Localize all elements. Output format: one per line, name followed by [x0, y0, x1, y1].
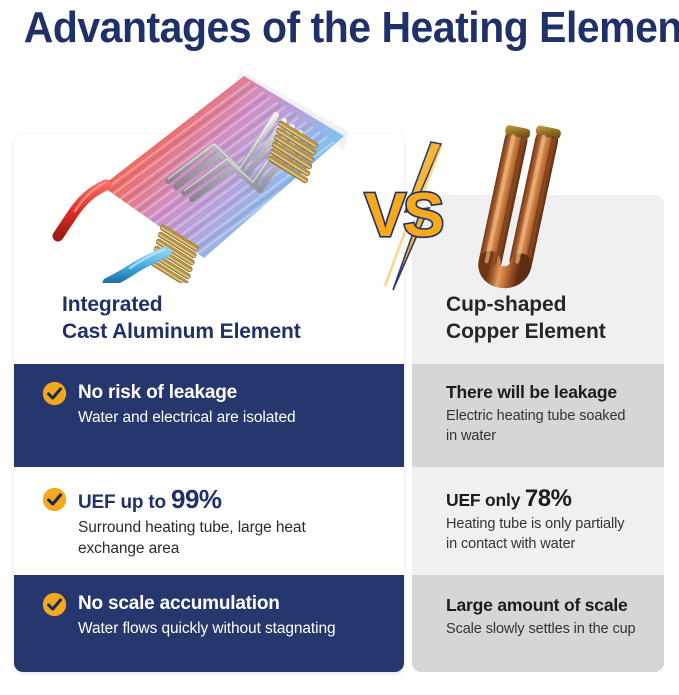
right-feature-row-1: There will be leakage Electric heating t… — [412, 364, 664, 467]
left-feature-subtitle-3: Water flows quickly without stagnating — [78, 618, 404, 639]
left-feature-title-2: UEF up to 99% — [78, 487, 404, 515]
left-feature-row-2: UEF up to 99% Surround heating tube, lar… — [14, 471, 404, 575]
left-feature-row-3: No scale accumulation Water flows quickl… — [14, 575, 404, 672]
right-feature-title-2-value: 78% — [525, 485, 572, 512]
versus-badge: VS — [345, 140, 475, 292]
right-feature-title-3: Large amount of scale — [446, 594, 664, 617]
cast-aluminum-element-image — [44, 58, 364, 283]
right-feature-subtitle-1: Electric heating tube soaked in water — [446, 406, 664, 446]
right-feature-subtitle-3: Scale slowly settles in the cup — [446, 619, 664, 639]
left-feature-title-2-prefix: UEF up to — [78, 492, 171, 513]
copper-element-image — [455, 118, 595, 293]
left-column-heading: Integrated Cast Aluminum Element — [62, 291, 301, 345]
left-feature-title-2-value: 99% — [171, 484, 222, 514]
vs-label: VS — [365, 181, 442, 250]
right-feature-subtitle-2: Heating tube is only partially in contac… — [446, 514, 664, 554]
left-feature-subtitle-2: Surround heating tube, large heat exchan… — [78, 517, 404, 559]
check-circle-icon — [42, 381, 67, 406]
right-feature-row-2: UEF only 78% Heating tube is only partia… — [412, 471, 664, 575]
right-column-heading: Cup-shaped Copper Element — [446, 291, 606, 345]
left-feature-title-1: No risk of leakage — [78, 381, 404, 405]
check-circle-icon — [42, 487, 67, 512]
right-feature-title-2-prefix: UEF only — [446, 490, 525, 510]
right-feature-title-2: UEF only 78% — [446, 487, 664, 512]
check-circle-icon — [42, 592, 67, 617]
right-feature-row-3: Large amount of scale Scale slowly settl… — [412, 575, 664, 672]
page-title: Advantages of the Heating Element — [24, 2, 655, 54]
left-feature-title-3: No scale accumulation — [78, 592, 404, 616]
left-feature-row-1: No risk of leakage Water and electrical … — [14, 364, 404, 467]
right-feature-title-1: There will be leakage — [446, 381, 664, 404]
left-feature-subtitle-1: Water and electrical are isolated — [78, 407, 404, 428]
